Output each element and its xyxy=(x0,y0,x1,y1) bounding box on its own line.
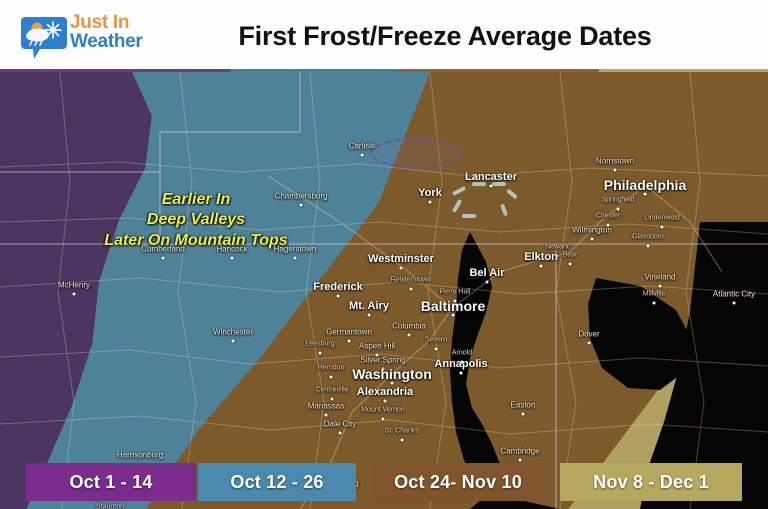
city-dot xyxy=(337,295,340,298)
city-label: Herndon xyxy=(318,365,345,372)
city-label: Harrisonburg xyxy=(117,451,163,460)
city-label: Perry Hall xyxy=(440,289,471,296)
snowflake-icon xyxy=(45,22,61,38)
map-annotation: Earlier In Deep Valleys Later On Mountai… xyxy=(104,190,287,251)
city-dot xyxy=(73,293,76,296)
city-dot xyxy=(401,439,404,442)
city-label: Wilmington xyxy=(572,226,612,235)
city-label: Germantown xyxy=(326,328,372,337)
city-dot xyxy=(339,432,342,435)
city-dot xyxy=(429,201,432,204)
city-label: Elkton xyxy=(524,251,558,263)
city-label: York xyxy=(418,187,442,199)
city-label: Frederick xyxy=(313,281,363,293)
city-label: Easton xyxy=(511,401,536,410)
city-dot xyxy=(348,340,351,343)
city-dot xyxy=(300,204,303,207)
city-label: Dover xyxy=(578,330,599,339)
city-label: Baltimore xyxy=(421,298,486,314)
city-label: Hancock xyxy=(216,245,247,254)
city-dot xyxy=(331,398,334,401)
legend-item-oct24-nov10: Oct 24- Nov 10 xyxy=(372,463,544,501)
city-label: McHenry xyxy=(58,281,90,290)
city-dot xyxy=(325,414,328,417)
city-label: Vineland xyxy=(645,273,676,282)
dash-marker xyxy=(462,214,476,218)
city-dot xyxy=(519,459,522,462)
city-dot xyxy=(384,400,387,403)
city-label: Severn xyxy=(425,337,447,344)
city-label: Alexandria xyxy=(357,386,413,398)
city-label: Norristown xyxy=(596,157,634,166)
city-dot xyxy=(569,263,572,266)
city-label: Springfield xyxy=(601,197,634,204)
city-label: Silver Spring xyxy=(360,356,405,365)
city-label: Chester xyxy=(596,213,621,220)
legend-item-oct12-26: Oct 12 - 26 xyxy=(198,463,356,501)
city-label: Staunton xyxy=(96,504,124,509)
city-dot xyxy=(408,334,411,337)
city-dot xyxy=(368,314,371,317)
legend-item-oct1-14: Oct 1 - 14 xyxy=(26,463,196,501)
city-label: Chambersburg xyxy=(275,192,328,201)
city-label: Lancaster xyxy=(465,171,517,183)
city-dot xyxy=(410,288,413,291)
city-dot xyxy=(435,348,438,351)
city-dot xyxy=(294,257,297,260)
weather-speech-bubble-icon xyxy=(20,13,68,61)
city-label: Cambridge xyxy=(500,447,539,456)
city-dot xyxy=(522,413,525,416)
city-label: Millville xyxy=(643,291,666,298)
city-dot xyxy=(361,154,364,157)
weather-graphic: Just In Weather First Frost/Freeze Avera… xyxy=(0,0,768,509)
city-dot xyxy=(661,226,664,229)
city-label: Winchester xyxy=(213,328,253,337)
city-label: Philadelphia xyxy=(604,177,686,193)
city-dot xyxy=(617,208,620,211)
city-dot xyxy=(647,245,650,248)
city-dot xyxy=(319,352,322,355)
city-dot xyxy=(588,342,591,345)
city-label: Hagerstown xyxy=(274,245,317,254)
city-label: Bel Air xyxy=(469,267,504,279)
city-label: Washington xyxy=(352,366,432,382)
city-dot xyxy=(591,238,594,241)
city-label: Manassas xyxy=(308,402,344,411)
brand-line-2: Weather xyxy=(70,32,143,51)
city-dot xyxy=(162,257,165,260)
page-title: First Frost/Freeze Average Dates xyxy=(162,21,768,52)
city-label: Newark xyxy=(545,244,569,251)
city-label: Arnold xyxy=(452,350,472,357)
city-dot xyxy=(653,302,656,305)
city-dot xyxy=(540,265,543,268)
city-label: Mount Vernon xyxy=(361,407,405,414)
brand-logo-text: Just In Weather xyxy=(70,13,143,51)
annotation-line-3: Later On Mountain Tops xyxy=(104,231,287,251)
city-dot xyxy=(659,285,662,288)
city-label: Bear xyxy=(563,252,578,259)
highlight-ellipse-york xyxy=(370,138,462,168)
city-dot xyxy=(231,257,234,260)
city-dot xyxy=(486,281,489,284)
city-label: Westminster xyxy=(368,253,434,265)
city-dot xyxy=(382,418,385,421)
city-label: Lindenwold xyxy=(644,215,679,222)
city-dot xyxy=(733,302,736,305)
brand-logo: Just In Weather xyxy=(12,7,162,65)
city-label: Aspen Hill xyxy=(359,342,395,351)
city-label: St. Charles xyxy=(385,428,420,435)
annotation-line-2: Deep Valleys xyxy=(104,210,287,230)
city-label: Atlantic City xyxy=(713,290,755,299)
city-dot xyxy=(460,372,463,375)
city-label: Columbia xyxy=(392,322,426,331)
city-label: Glassboro xyxy=(632,234,664,241)
city-dot xyxy=(461,361,464,364)
city-label: Carlisle xyxy=(349,142,376,151)
city-dot xyxy=(330,376,333,379)
header-bar: Just In Weather First Frost/Freeze Avera… xyxy=(0,0,768,72)
annotation-line-1: Earlier In xyxy=(104,190,287,210)
legend: Oct 1 - 14 Oct 12 - 26 Oct 24- Nov 10 No… xyxy=(0,463,768,501)
city-label: Leesburg xyxy=(305,341,334,348)
city-label: Centreville xyxy=(315,387,348,394)
frost-freeze-map: Earlier In Deep Valleys Later On Mountai… xyxy=(0,72,768,509)
brand-line-1: Just In xyxy=(70,13,143,32)
city-label: Mt. Airy xyxy=(349,300,389,312)
legend-item-nov8-dec1: Nov 8 - Dec 1 xyxy=(560,463,742,501)
city-label: Cumberland xyxy=(141,245,185,254)
city-dot xyxy=(400,267,403,270)
city-label: Dale City xyxy=(324,420,356,429)
city-dot xyxy=(232,340,235,343)
city-dot xyxy=(614,169,617,172)
city-label: Reisterstown xyxy=(391,277,431,284)
city-dot xyxy=(490,185,493,188)
